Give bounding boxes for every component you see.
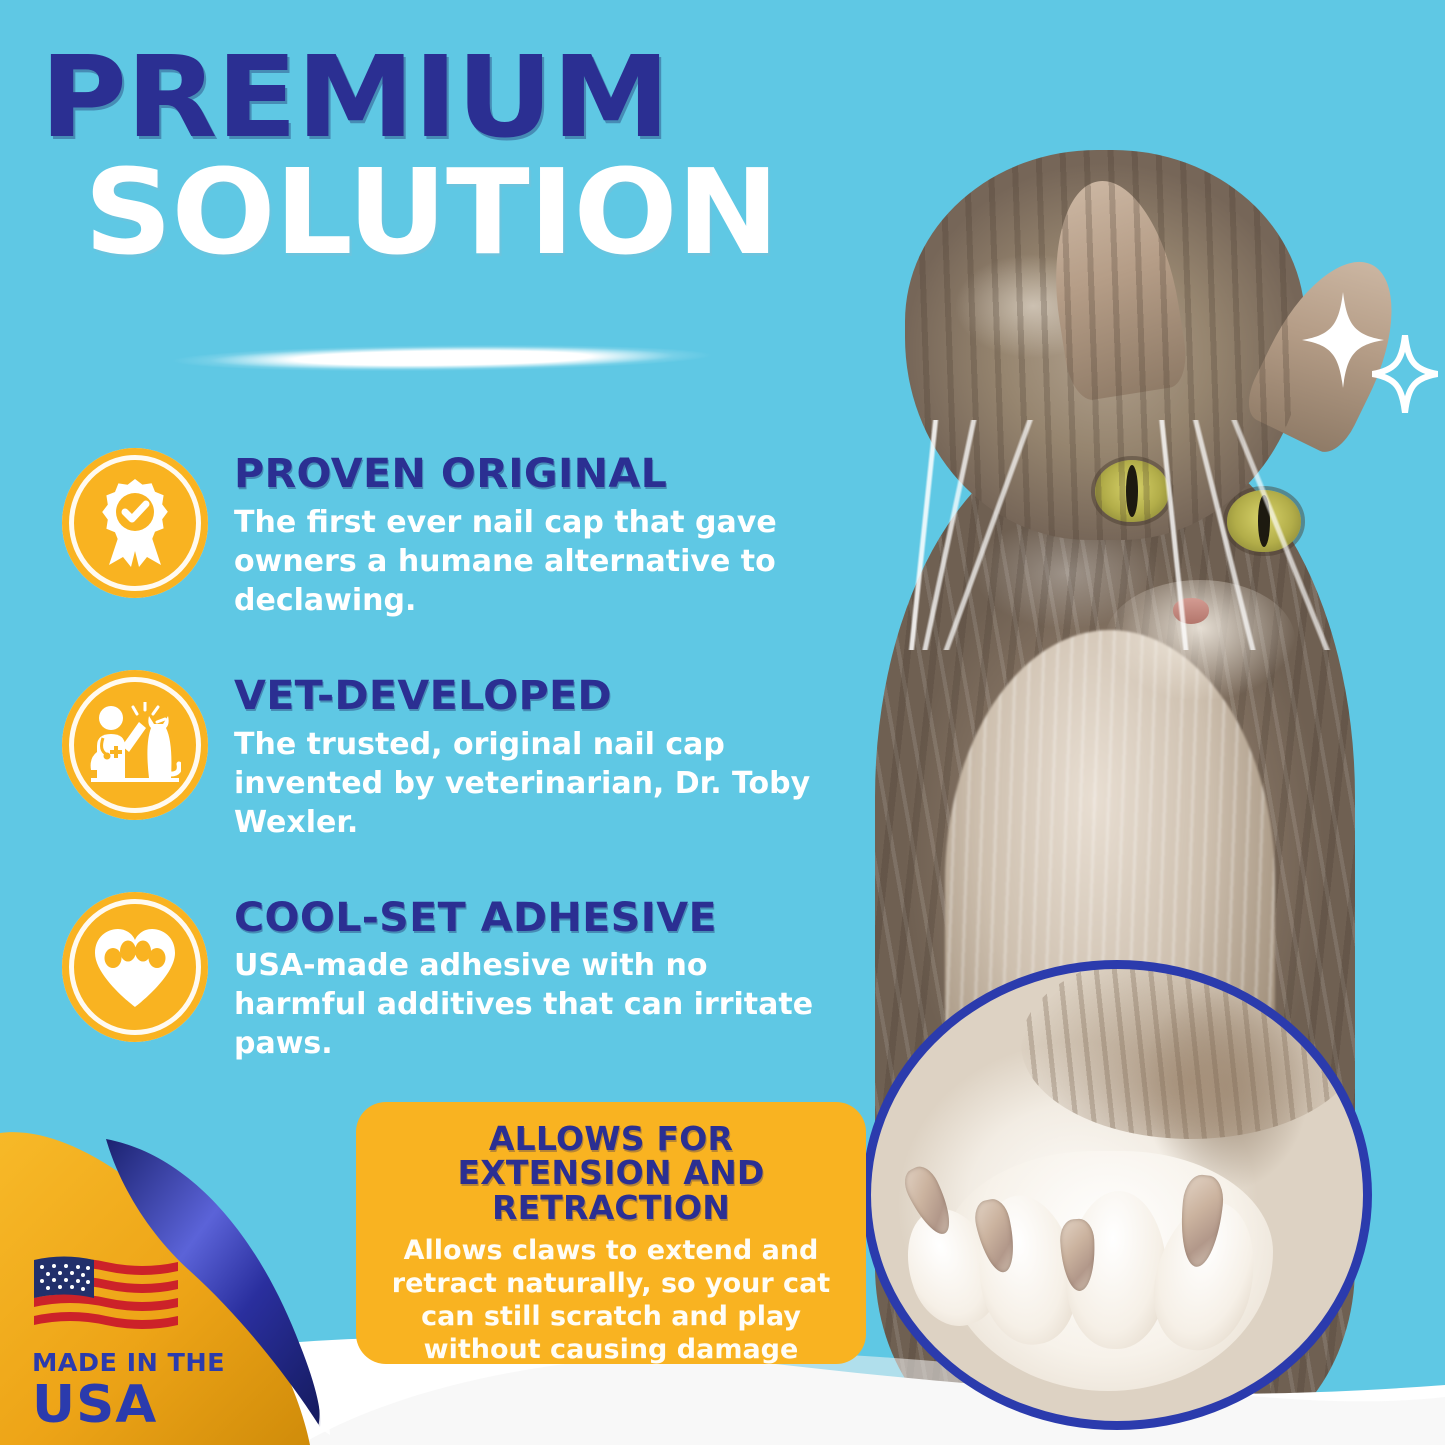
headline-line-2: SOLUTION [84, 155, 860, 271]
feature-body: The trusted, original nail cap invented … [234, 725, 814, 842]
usa-badge-line-2: USA [32, 1379, 236, 1431]
feature-item-vet-developed: VET-DEVELOPED The trusted, original nail… [62, 670, 822, 842]
feature-title: COOL-SET ADHESIVE [234, 898, 831, 939]
feature-title: VET-DEVELOPED [234, 676, 831, 717]
vet-highfive-cat-icon [62, 670, 208, 820]
feature-item-proven-original: PROVEN ORIGINAL The first ever nail cap … [62, 448, 822, 620]
callout-body: Allows claws to extend and retract natur… [378, 1235, 844, 1367]
feature-list: PROVEN ORIGINAL The first ever nail cap … [62, 448, 822, 1113]
infographic-canvas: PREMIUM SOLUTION PROVEN ORIGINAL The fir… [0, 0, 1445, 1445]
cat-nose [1173, 598, 1209, 624]
brush-stroke-divider [172, 342, 712, 374]
usa-badge-line-1: MADE IN THE [32, 1350, 236, 1375]
cat-head [905, 150, 1305, 540]
feature-body: USA-made adhesive with no harmful additi… [234, 946, 814, 1063]
award-ribbon-icon [62, 448, 208, 598]
sparkle-star-outline-icon [1372, 335, 1438, 413]
feature-item-cool-set-adhesive: COOL-SET ADHESIVE USA-made adhesive with… [62, 892, 822, 1064]
feature-text-block: PROVEN ORIGINAL The first ever nail cap … [234, 448, 814, 620]
cat-eye-left [1095, 460, 1169, 522]
paw-fur-upper [1021, 960, 1361, 1139]
cat-ear-left [1039, 172, 1191, 403]
cat-paw-closeup-with-nail-caps [862, 960, 1372, 1430]
feature-title: PROVEN ORIGINAL [234, 454, 831, 495]
us-flag-icon [32, 1252, 180, 1338]
heart-paw-icon [62, 892, 208, 1042]
cat-muzzle [1105, 580, 1295, 700]
made-in-usa-badge: MADE IN THE USA [32, 1252, 232, 1431]
headline-line-1: PREMIUM [40, 46, 877, 151]
callout-title: ALLOWS FOR EXTENSION AND RETRACTION [378, 1122, 844, 1225]
cat-eye-right [1227, 490, 1301, 552]
headline-block: PREMIUM SOLUTION [40, 46, 830, 271]
extension-retraction-callout: ALLOWS FOR EXTENSION AND RETRACTION Allo… [356, 1102, 866, 1364]
feature-text-block: COOL-SET ADHESIVE USA-made adhesive with… [234, 892, 814, 1064]
feature-body: The first ever nail cap that gave owners… [234, 503, 814, 620]
feature-text-block: VET-DEVELOPED The trusted, original nail… [234, 670, 814, 842]
